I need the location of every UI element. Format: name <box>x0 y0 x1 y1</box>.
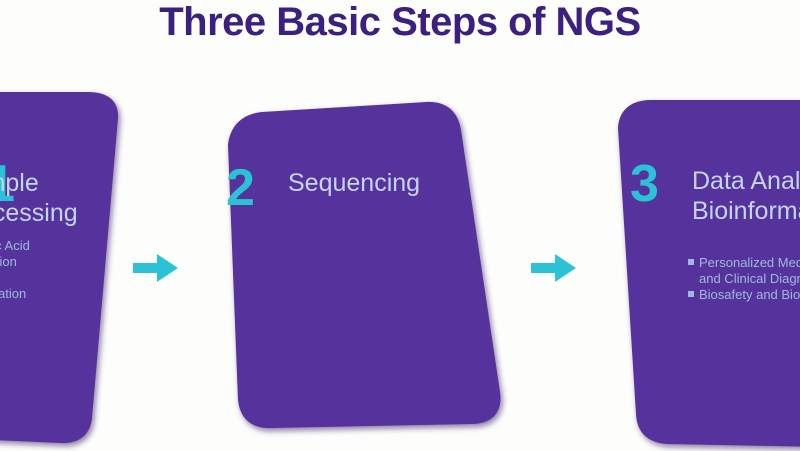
list-item: Personalized Medicine <box>688 255 800 271</box>
step-3-bullet-2: Biosafety and Biosecurity <box>699 287 800 302</box>
arrow-right-icon-step2-to-step3 <box>531 251 577 285</box>
step-3-heading-line2: Bioinformatics <box>692 197 800 225</box>
arrow-right-icon-step1-to-step2 <box>133 251 179 285</box>
bullet-dot-icon <box>688 291 694 297</box>
step-3-bullet-1: Personalized Medicine <box>699 255 800 270</box>
list-item: Biosafety and Biosecurity <box>688 287 800 303</box>
infographic-canvas: Three Basic Steps of NGS 1 Sample Proces… <box>0 0 800 451</box>
step-3-heading: Data Analysis & Bioinformatics <box>692 166 800 226</box>
bullet-dot-icon <box>688 259 694 265</box>
step-card-3[interactable]: 3 Data Analysis & Bioinformatics Persona… <box>0 0 800 451</box>
step-3-heading-line1: Data Analysis & <box>692 167 800 195</box>
step-3-bullet-list: Personalized Medicine and Clinical Diagn… <box>688 255 800 303</box>
step-3-bullet-1-cont: and Clinical Diagnostics <box>688 271 800 287</box>
step-3-number: 3 <box>630 158 659 210</box>
